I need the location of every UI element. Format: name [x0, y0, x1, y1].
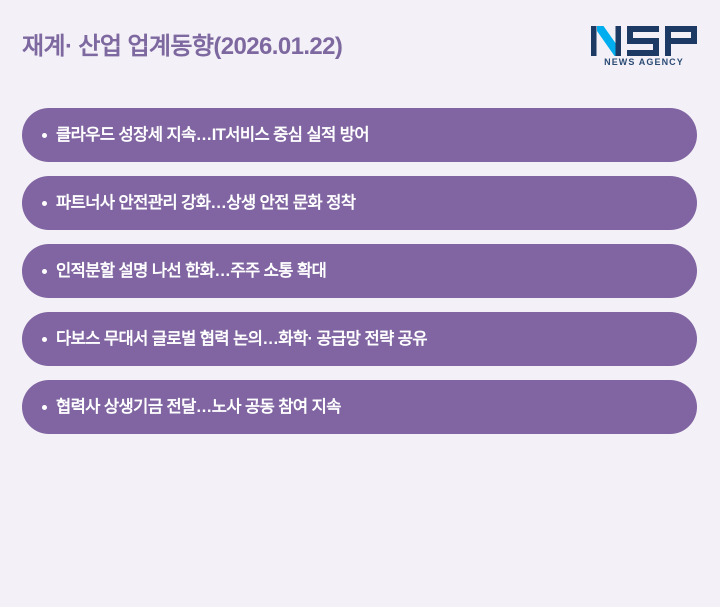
- bullet-icon: [42, 405, 47, 410]
- headline-pill-4[interactable]: 다보스 무대서 글로벌 협력 논의…화학· 공급망 전략 공유: [22, 312, 697, 366]
- slide-canvas: 재계· 산업 업계동향(2026.01.22) NEWS AGENCY 클라우드…: [0, 0, 720, 607]
- headline-text: 파트너사 안전관리 강화…상생 안전 문화 정착: [56, 192, 671, 214]
- headline-pill-1[interactable]: 클라우드 성장세 지속…IT서비스 중심 실적 방어: [22, 108, 697, 162]
- headline-pill-2[interactable]: 파트너사 안전관리 강화…상생 안전 문화 정착: [22, 176, 697, 230]
- header: 재계· 산업 업계동향(2026.01.22) NEWS AGENCY: [0, 0, 720, 96]
- bullet-icon: [42, 269, 47, 274]
- headline-pill-5[interactable]: 협력사 상생기금 전달…노사 공동 참여 지속: [22, 380, 697, 434]
- nsp-logo: NEWS AGENCY: [590, 23, 698, 75]
- bullet-icon: [42, 337, 47, 342]
- headline-text: 클라우드 성장세 지속…IT서비스 중심 실적 방어: [56, 124, 671, 146]
- page-title: 재계· 산업 업계동향(2026.01.22): [22, 30, 342, 64]
- headline-text: 인적분할 설명 나선 한화…주주 소통 확대: [56, 260, 671, 282]
- bullet-icon: [42, 133, 47, 138]
- headline-list: 클라우드 성장세 지속…IT서비스 중심 실적 방어 파트너사 안전관리 강화……: [22, 108, 697, 434]
- headline-text: 다보스 무대서 글로벌 협력 논의…화학· 공급망 전략 공유: [56, 328, 671, 350]
- bullet-icon: [42, 201, 47, 206]
- logo-tagline: NEWS AGENCY: [590, 57, 698, 67]
- nsp-wordmark-icon: [590, 23, 698, 59]
- headline-pill-3[interactable]: 인적분할 설명 나선 한화…주주 소통 확대: [22, 244, 697, 298]
- headline-text: 협력사 상생기금 전달…노사 공동 참여 지속: [56, 396, 671, 418]
